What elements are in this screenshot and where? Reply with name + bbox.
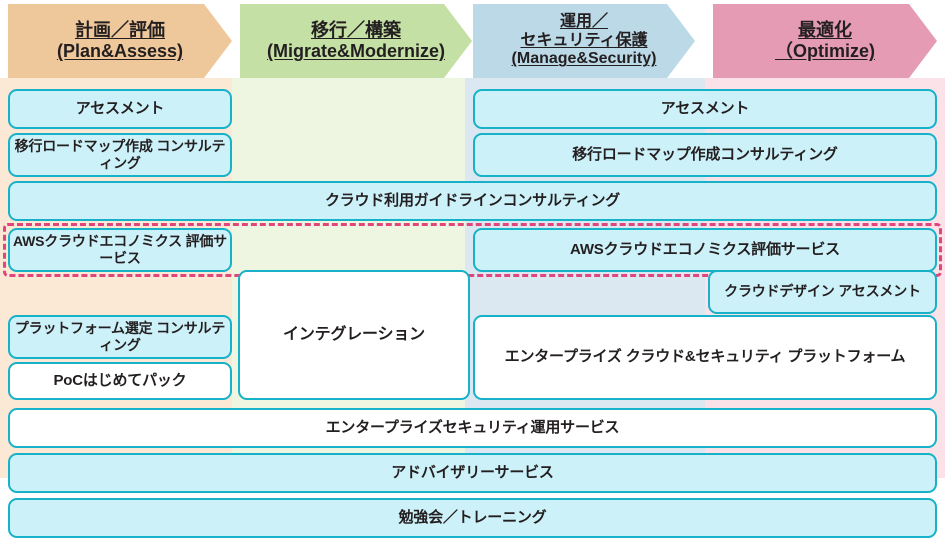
service-label: 移行ロードマップ作成コンサルティング	[572, 146, 838, 164]
service-box-enterprise-security-ops[interactable]: エンタープライズセキュリティ運用サービス	[8, 408, 937, 448]
service-label: アドバイザリーサービス	[391, 464, 554, 482]
service-box-aws-economics-right[interactable]: AWSクラウドエコノミクス評価サービス	[473, 228, 937, 272]
service-label: アセスメント	[76, 100, 165, 118]
service-box-roadmap-consulting-left[interactable]: 移行ロードマップ作成 コンサルティング	[8, 133, 232, 177]
service-label: 勉強会／トレーニング	[398, 509, 546, 527]
phase-header-line2: (Plan&Assess)	[57, 41, 183, 62]
phase-header-manage-security[interactable]: 運用／ セキュリティ保護 (Manage&Security)	[473, 4, 695, 78]
service-box-guideline-consulting[interactable]: クラウド利用ガイドラインコンサルティング	[8, 181, 937, 221]
service-label: PoCはじめてパック	[53, 372, 186, 390]
phase-header-line1: 計画／評価	[57, 20, 183, 41]
service-box-assessment-right[interactable]: アセスメント	[473, 89, 937, 129]
service-box-training[interactable]: 勉強会／トレーニング	[8, 498, 937, 538]
phase-header-line2: （Optimize)	[775, 41, 875, 62]
service-label: AWSクラウドエコノミクス評価サービス	[570, 241, 840, 259]
phase-header-line3: (Manage&Security)	[512, 50, 657, 69]
service-label-line2: クラウド&セキュリティ	[626, 348, 784, 365]
service-label-line1: AWSクラウドエコノミクス	[13, 233, 182, 249]
service-label: クラウド利用ガイドラインコンサルティング	[325, 192, 620, 210]
service-label: アセスメント	[661, 100, 750, 118]
phase-header-migrate-modernize[interactable]: 移行／構築 (Migrate&Modernize)	[240, 4, 472, 78]
service-box-roadmap-consulting-right[interactable]: 移行ロードマップ作成コンサルティング	[473, 133, 937, 177]
phase-header-line1: 最適化	[775, 20, 875, 41]
phase-header-line2: セキュリティ保護	[512, 32, 657, 51]
phase-header-line1: 運用／	[512, 13, 657, 32]
service-box-platform-selection[interactable]: プラットフォーム選定 コンサルティング	[8, 315, 232, 359]
service-label-line1: エンタープライズ	[505, 348, 622, 365]
phase-header-line2: (Migrate&Modernize)	[267, 41, 445, 62]
service-box-integration[interactable]: インテグレーション	[238, 270, 470, 400]
service-label: エンタープライズセキュリティ運用サービス	[326, 419, 620, 437]
service-box-aws-economics-left[interactable]: AWSクラウドエコノミクス 評価サービス	[8, 228, 232, 272]
service-box-poc-starter-pack[interactable]: PoCはじめてパック	[8, 362, 232, 400]
service-box-assessment-left[interactable]: アセスメント	[8, 89, 232, 129]
service-label: インテグレーション	[283, 325, 425, 345]
service-box-cloud-design-assessment[interactable]: クラウドデザイン アセスメント	[708, 270, 937, 314]
phase-header-line1: 移行／構築	[267, 20, 445, 41]
phase-header-optimize[interactable]: 最適化 （Optimize)	[713, 4, 937, 78]
service-label-line2: アセスメント	[838, 283, 921, 299]
service-box-advisory-service[interactable]: アドバイザリーサービス	[8, 453, 937, 493]
service-label-line1: クラウドデザイン	[724, 283, 834, 299]
service-label-line1: 移行ロードマップ作成	[15, 138, 153, 154]
service-box-enterprise-platform[interactable]: エンタープライズ クラウド&セキュリティ プラットフォーム	[473, 315, 937, 400]
phase-header-plan-assess[interactable]: 計画／評価 (Plan&Assess)	[8, 4, 232, 78]
service-label-line1: プラットフォーム選定	[15, 320, 153, 336]
service-label-line3: プラットフォーム	[787, 348, 905, 365]
service-matrix-diagram: 計画／評価 (Plan&Assess) 移行／構築 (Migrate&Moder…	[0, 0, 945, 543]
